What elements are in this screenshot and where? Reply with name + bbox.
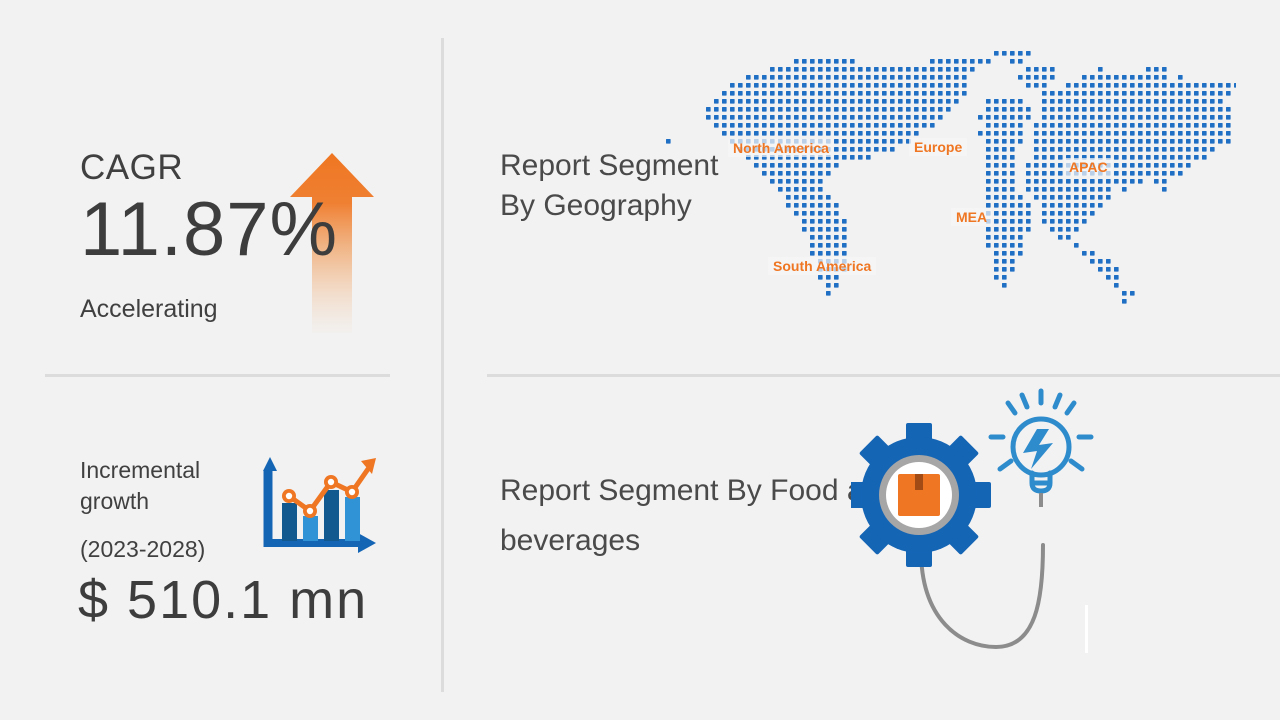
map-label-europe: Europe	[909, 138, 967, 156]
map-label-north-america: North America	[728, 139, 834, 157]
bar-line-chart-icon	[258, 455, 378, 560]
incremental-growth-value: $ 510.1 mn	[78, 569, 368, 631]
map-label-mea: MEA	[951, 208, 992, 226]
incremental-growth-label: Incremental growth	[80, 455, 260, 517]
food-beverages-title: Report Segment By Food and beverages	[500, 466, 900, 566]
cagr-value: 11.87%	[80, 186, 338, 273]
cagr-panel: CAGR 11.87% Accelerating	[0, 0, 441, 374]
map-label-south-america: South America	[768, 257, 876, 275]
geography-panel: Report Segment By Geography North Americ…	[441, 0, 1280, 374]
dotted-world-map-icon: North America South America Europe MEA A…	[656, 45, 1236, 345]
gear-lightbulb-icon	[851, 385, 1101, 655]
white-accent-tick	[1085, 605, 1088, 653]
cagr-label: CAGR	[80, 148, 183, 188]
map-label-apac: APAC	[1064, 158, 1113, 176]
cagr-sublabel: Accelerating	[80, 295, 218, 324]
food-beverages-panel: Report Segment By Food and beverages	[441, 377, 1280, 720]
incremental-growth-period: (2023-2028)	[80, 536, 205, 563]
